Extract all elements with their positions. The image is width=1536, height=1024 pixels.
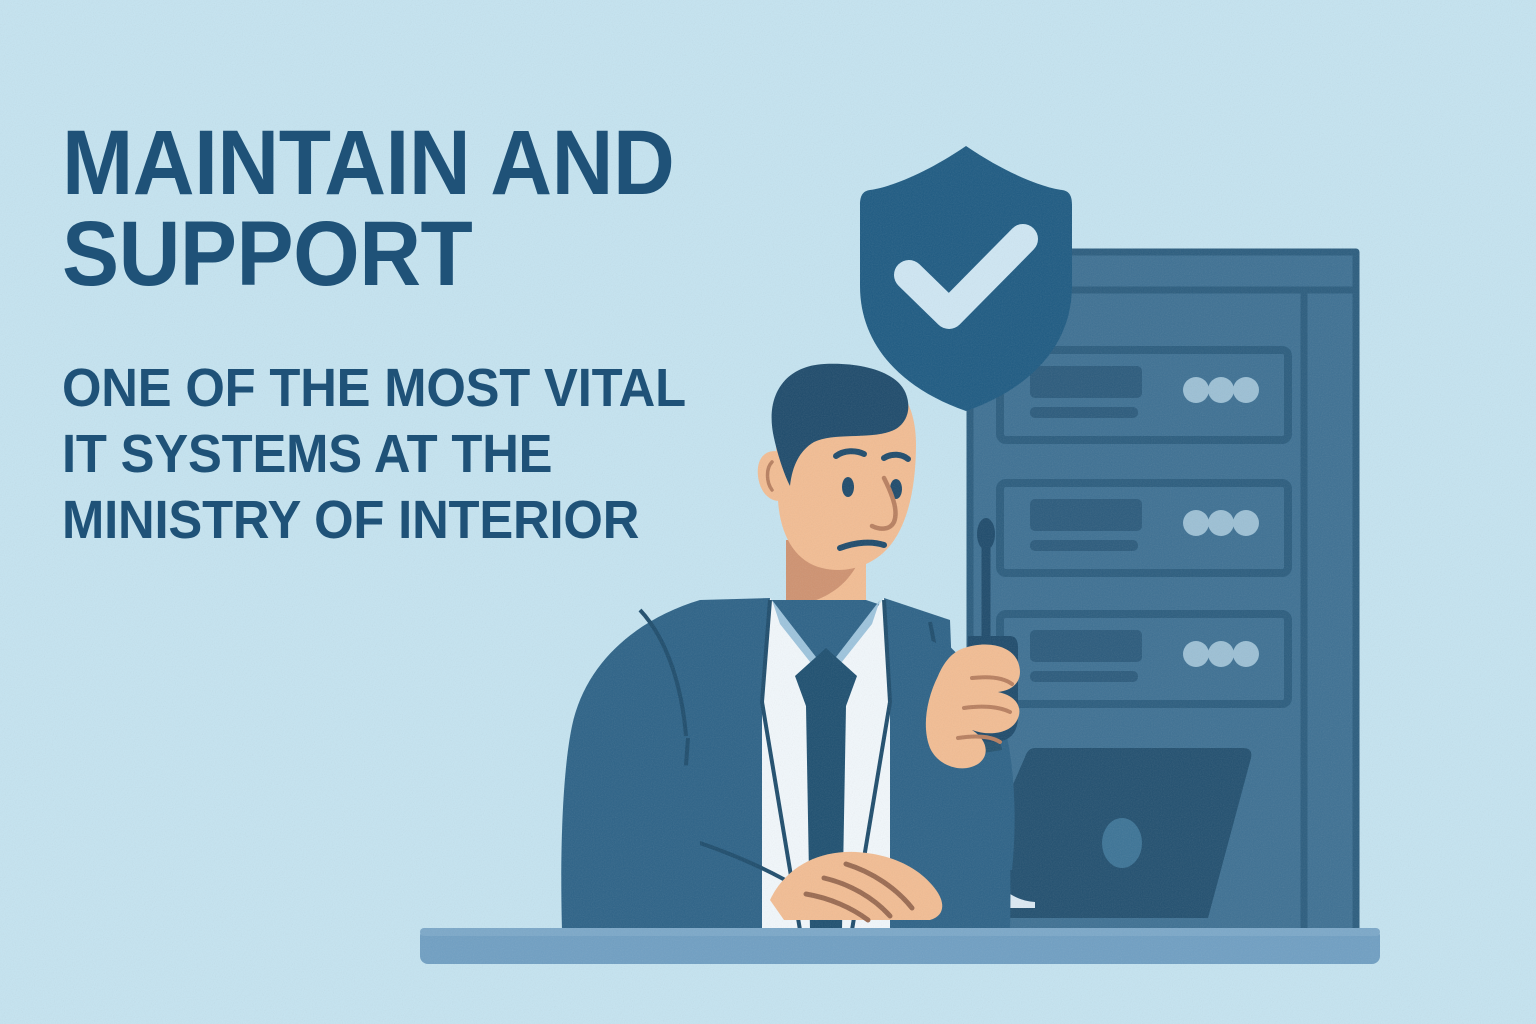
text-block: MAINTAIN AND SUPPORT ONE OF THE MOST VIT… [62, 118, 762, 554]
poster-canvas: MAINTAIN AND SUPPORT ONE OF THE MOST VIT… [0, 0, 1536, 1024]
page-subtitle: ONE OF THE MOST VITAL IT SYSTEMS AT THE … [62, 300, 720, 554]
page-title: MAINTAIN AND SUPPORT [62, 118, 713, 300]
